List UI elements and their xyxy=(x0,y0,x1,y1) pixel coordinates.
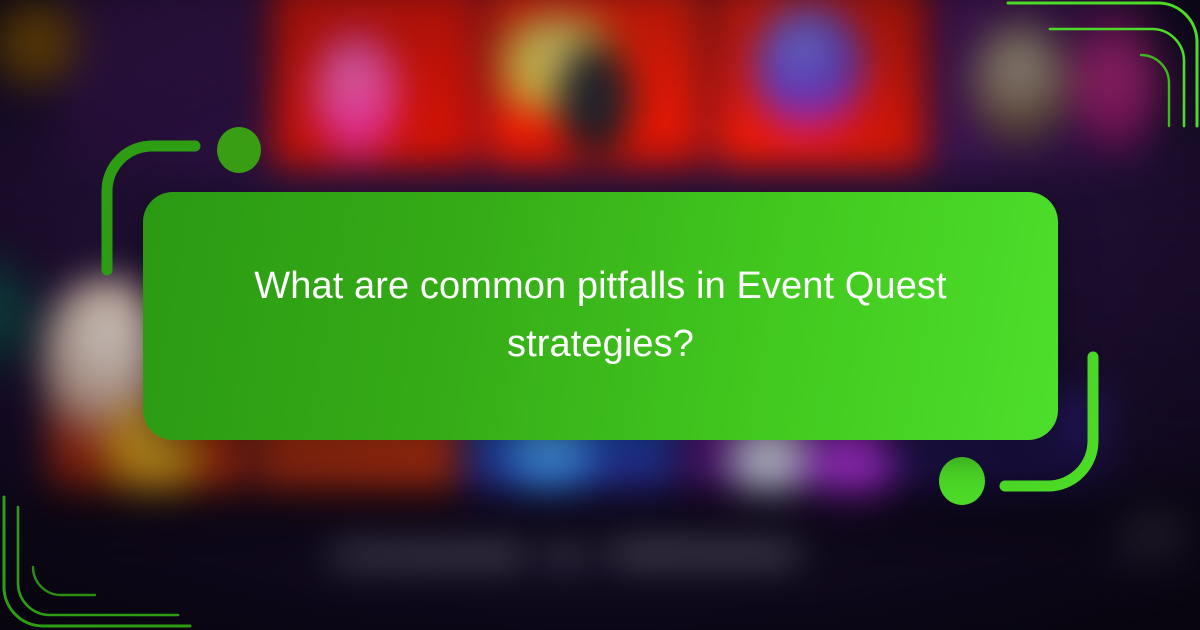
background-character-blob xyxy=(558,45,632,156)
background-character-blob xyxy=(971,18,1072,145)
background-text-smear xyxy=(330,549,526,564)
background-dark-band xyxy=(28,490,1200,554)
background-character-blob xyxy=(314,30,399,157)
background-text-smear xyxy=(608,547,799,563)
background-text-smear xyxy=(545,551,587,564)
promo-card-canvas: What are common pitfalls in Event Quest … xyxy=(0,0,1200,630)
background-text-smear xyxy=(1114,549,1190,561)
background-character-blob xyxy=(1072,13,1162,151)
question-card: What are common pitfalls in Event Quest … xyxy=(143,192,1058,440)
background-tile xyxy=(59,0,260,168)
background-text-smear xyxy=(1125,520,1189,532)
question-text: What are common pitfalls in Event Quest … xyxy=(251,258,951,374)
background-character-blob xyxy=(754,2,865,135)
